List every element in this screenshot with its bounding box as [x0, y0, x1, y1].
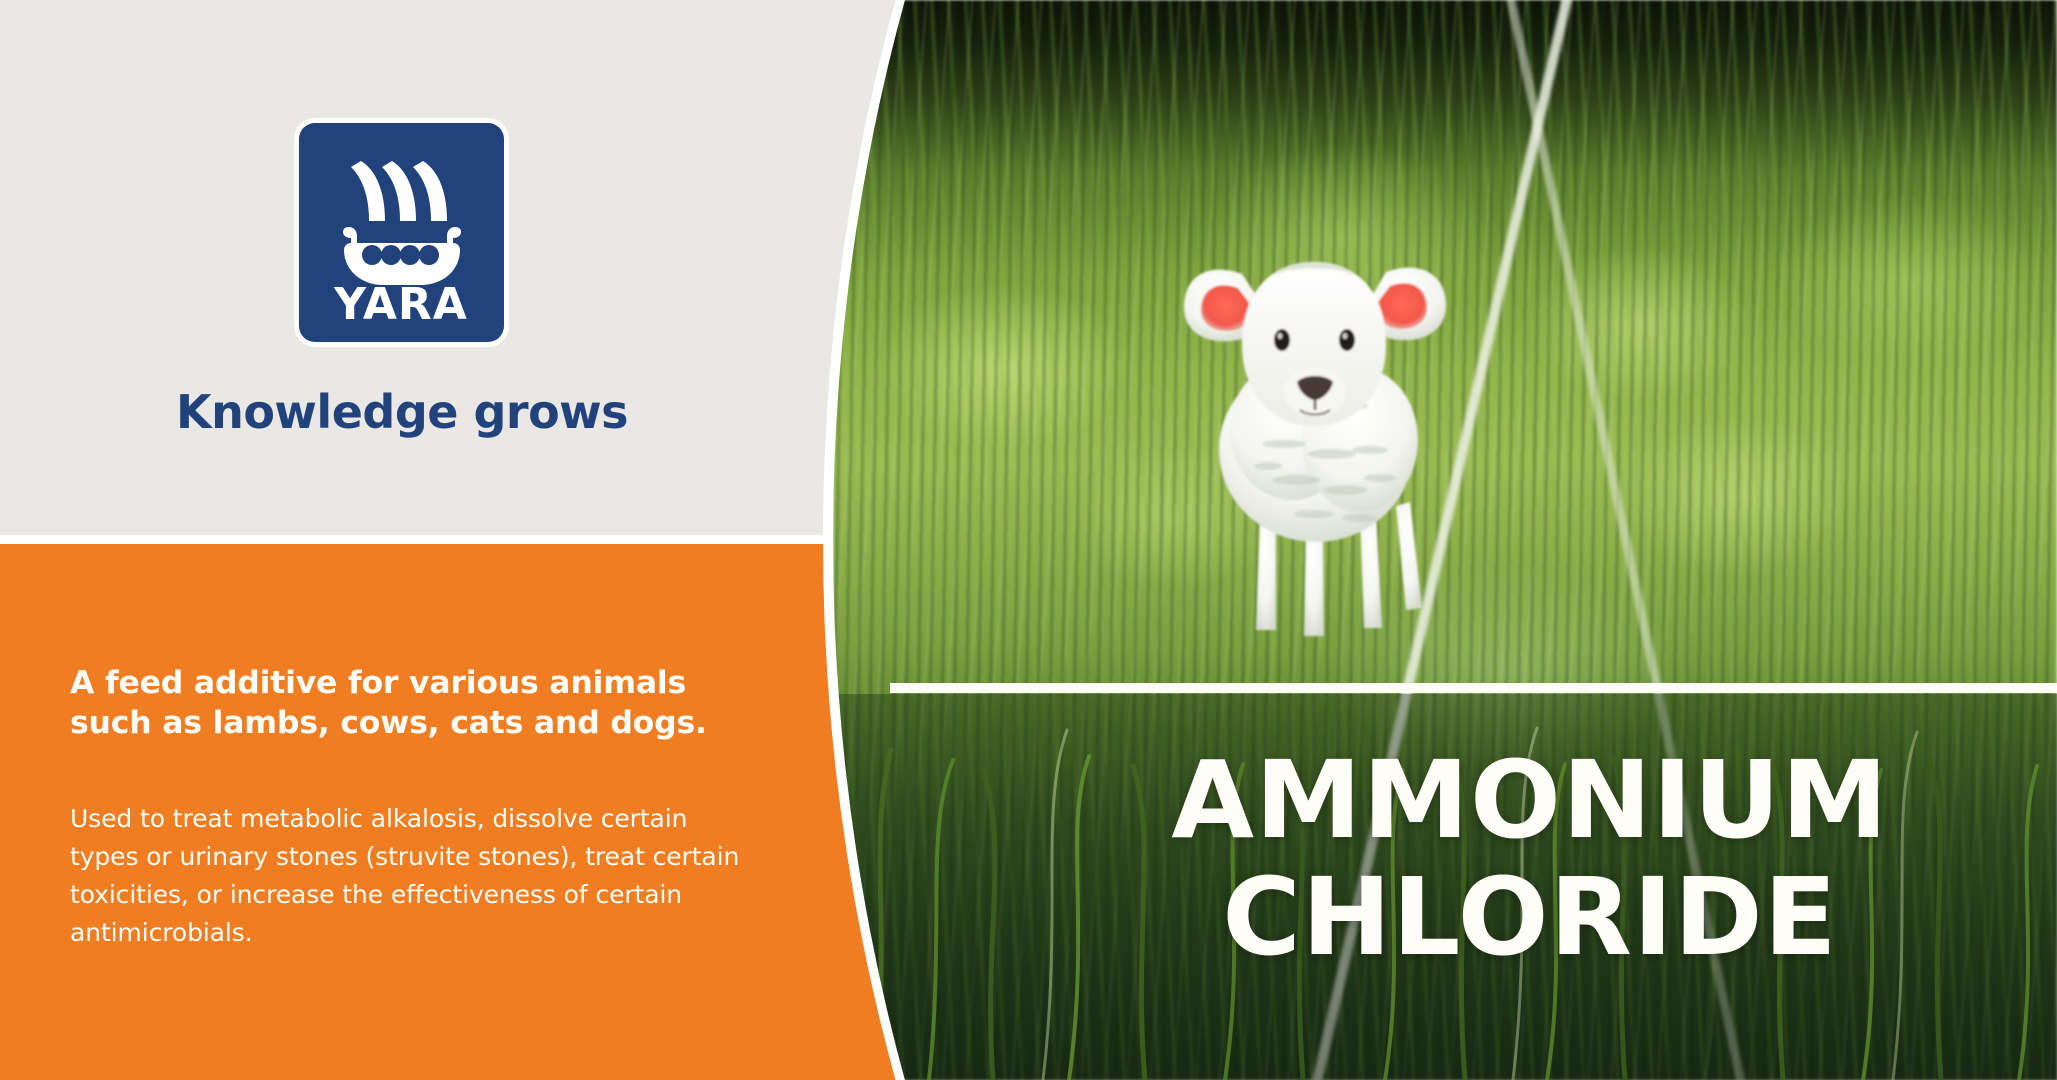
svg-text:YARA: YARA: [333, 279, 468, 330]
yara-logo[interactable]: YARA: [299, 123, 504, 342]
banner-root: YARA Knowledge grows A feed additive for…: [0, 0, 2057, 1080]
info-body: Used to treat metabolic alkalosis, disso…: [70, 800, 760, 952]
hero-title: AMMONIUM CHLORIDE: [1080, 750, 1980, 969]
hero-title-line-1: AMMONIUM: [1080, 750, 1980, 853]
hero-divider-rule: [890, 683, 2057, 693]
hero-title-line-2: CHLORIDE: [1080, 867, 1980, 970]
info-headline: A feed additive for various animals such…: [70, 663, 770, 743]
viking-ship-icon: YARA: [299, 123, 504, 342]
tagline-text: Knowledge grows: [176, 385, 628, 439]
